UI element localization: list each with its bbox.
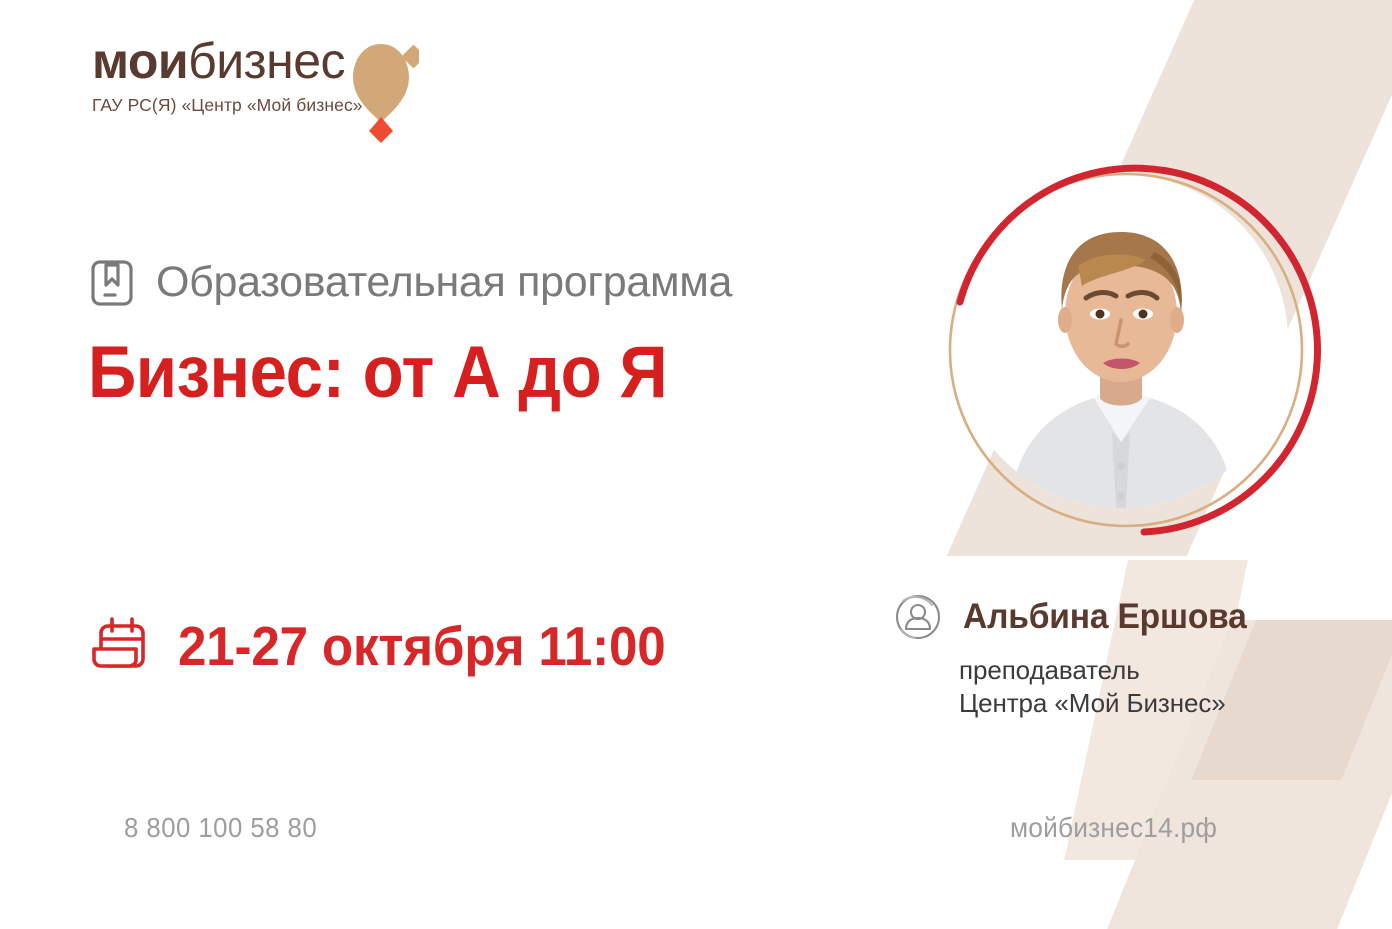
person-circle-icon xyxy=(893,592,943,642)
speaker-portrait xyxy=(948,168,1294,514)
program-label-row: Образовательная программа xyxy=(90,258,732,307)
speaker-info: Альбина Ершова преподаватель Центра «Мой… xyxy=(893,592,1313,720)
speaker-role-line1: преподаватель xyxy=(959,654,1313,687)
schedule-text: 21-27 октября 11:00 xyxy=(178,614,665,678)
portrait-decorative-rings xyxy=(930,154,1322,546)
rocket-pin-icon xyxy=(349,38,419,143)
book-bookmark-icon xyxy=(90,259,134,307)
contact-website[interactable]: мойбизнес14.рф xyxy=(1010,812,1217,844)
brand-wordmark-light: бизнес xyxy=(188,33,345,89)
contact-phone[interactable]: 8 800 100 58 80 xyxy=(124,812,317,844)
speaker-role-line2: Центра «Мой Бизнес» xyxy=(959,687,1313,720)
program-label: Образовательная программа xyxy=(156,258,732,307)
schedule-row: 21-27 октября 11:00 xyxy=(92,614,702,678)
program-title: Бизнес: от А до Я xyxy=(88,331,667,414)
ring-outer-red xyxy=(960,168,1318,532)
calendar-icon xyxy=(92,616,150,676)
promo-banner: моибизнес ГАУ РС(Я) «Центр «Мой бизнес» … xyxy=(0,0,1392,929)
brand-wordmark-bold: мои xyxy=(92,33,188,89)
speaker-name-row: Альбина Ершова xyxy=(893,592,1313,642)
speaker-name: Альбина Ершова xyxy=(963,597,1247,637)
speaker-role: преподаватель Центра «Мой Бизнес» xyxy=(959,654,1313,720)
